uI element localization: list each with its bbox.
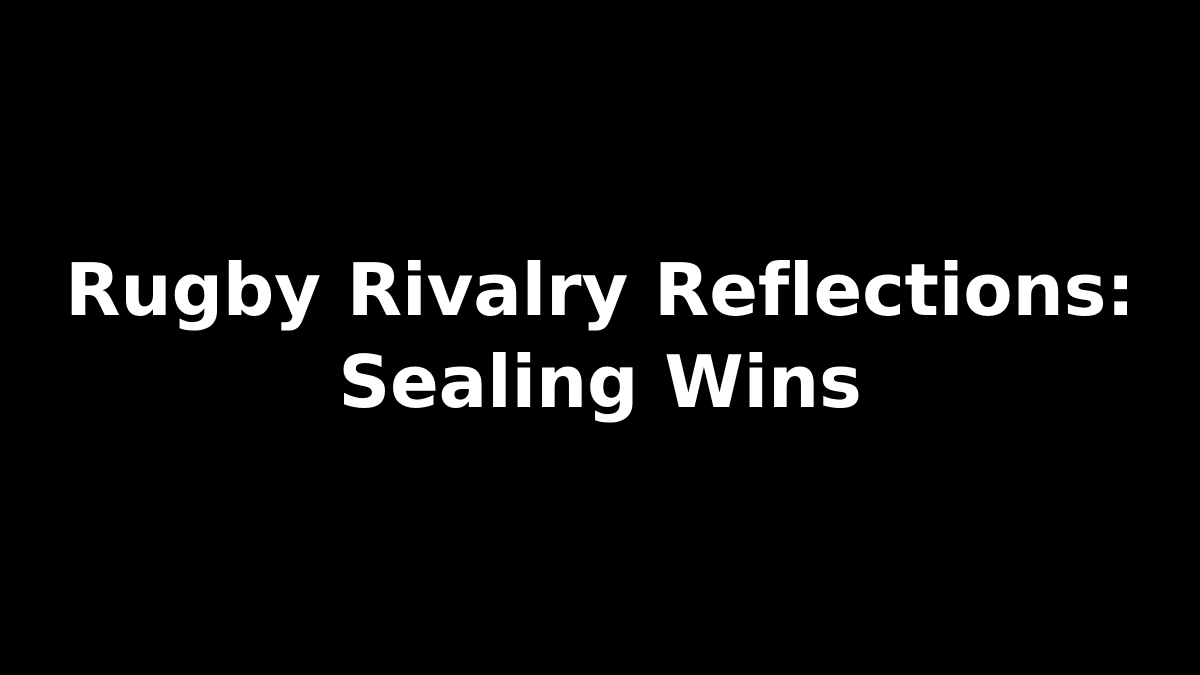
title-slide: Rugby Rivalry Reflections: Sealing Wins bbox=[0, 0, 1200, 675]
page-title: Rugby Rivalry Reflections: Sealing Wins bbox=[0, 244, 1200, 428]
title-block: Rugby Rivalry Reflections: Sealing Wins bbox=[0, 244, 1200, 428]
